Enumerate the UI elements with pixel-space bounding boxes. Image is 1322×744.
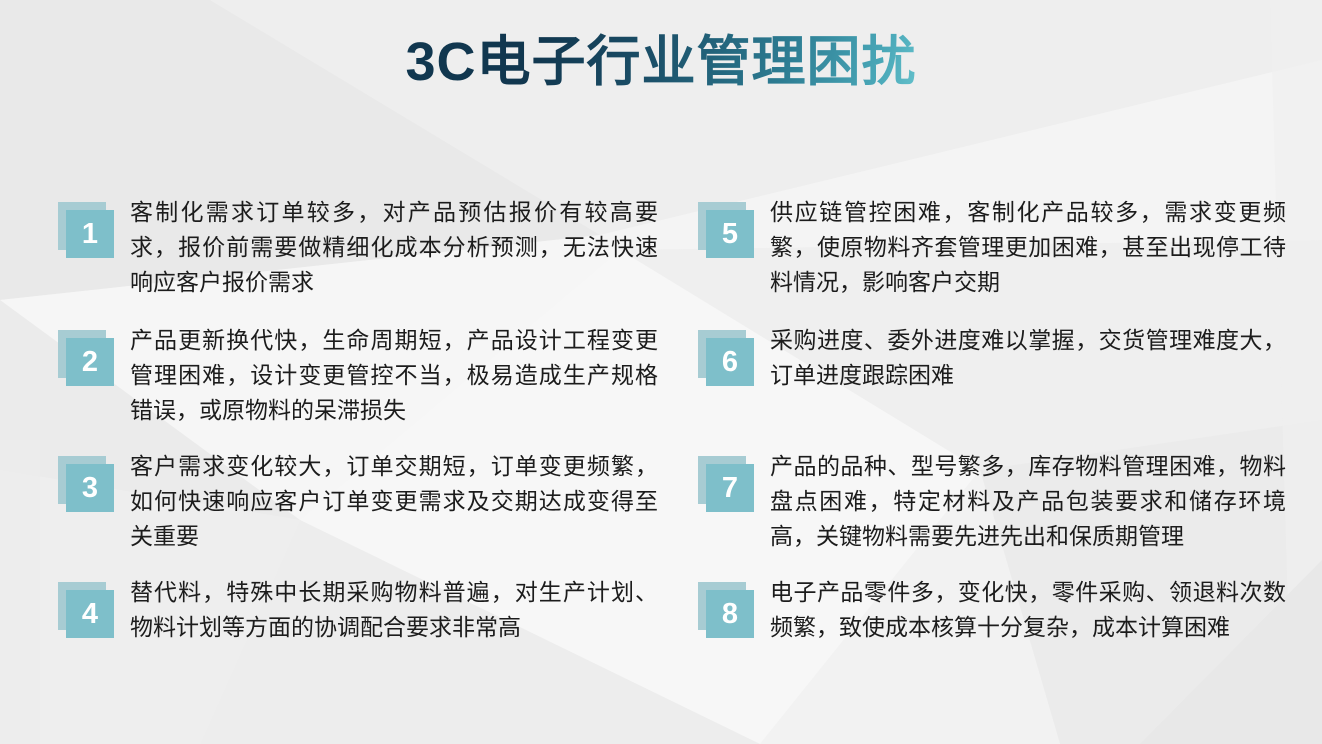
list-item: 5 供应链管控困难，客制化产品较多，需求变更频繁，使原物料齐套管理更加困难，甚至…	[698, 196, 1286, 324]
item-number-badge: 6	[698, 330, 754, 386]
list-item-text: 客户需求变化较大，订单交期短，订单变更频繁，如何快速响应客户订单变更需求及交期达…	[130, 450, 658, 555]
item-number-badge: 4	[58, 582, 114, 638]
badge-number-label: 3	[66, 464, 114, 512]
list-item: 2 产品更新换代快，生命周期短，产品设计工程变更管理困难，设计变更管控不当，极易…	[58, 324, 658, 450]
badge-number-label: 1	[66, 210, 114, 258]
list-item-text: 供应链管控困难，客制化产品较多，需求变更频繁，使原物料齐套管理更加困难，甚至出现…	[770, 196, 1286, 301]
item-number-badge: 3	[58, 456, 114, 512]
right-column: 5 供应链管控困难，客制化产品较多，需求变更频繁，使原物料齐套管理更加困难，甚至…	[698, 196, 1286, 646]
page-title: 3C电子行业管理困扰	[405, 32, 916, 92]
list-item: 4 替代料，特殊中长期采购物料普遍，对生产计划、物料计划等方面的协调配合要求非常…	[58, 576, 658, 646]
list-item-text: 客制化需求订单较多，对产品预估报价有较高要求，报价前需要做精细化成本分析预测，无…	[130, 196, 658, 301]
list-item-text: 替代料，特殊中长期采购物料普遍，对生产计划、物料计划等方面的协调配合要求非常高	[130, 576, 658, 646]
badge-number-label: 2	[66, 338, 114, 386]
list-item: 3 客户需求变化较大，订单交期短，订单变更频繁，如何快速响应客户订单变更需求及交…	[58, 450, 658, 576]
badge-number-label: 6	[706, 338, 754, 386]
left-column: 1 客制化需求订单较多，对产品预估报价有较高要求，报价前需要做精细化成本分析预测…	[58, 196, 658, 646]
list-item: 7 产品的品种、型号繁多，库存物料管理困难，物料盘点困难，特定材料及产品包装要求…	[698, 450, 1286, 576]
badge-number-label: 8	[706, 590, 754, 638]
slide-canvas: 3C电子行业管理困扰 1 客制化需求订单较多，对产品预估报价有较高要求，报价前需…	[0, 0, 1322, 744]
item-number-badge: 7	[698, 456, 754, 512]
list-item-text: 采购进度、委外进度难以掌握，交货管理难度大，订单进度跟踪困难	[770, 324, 1286, 394]
item-number-badge: 5	[698, 202, 754, 258]
badge-number-label: 7	[706, 464, 754, 512]
list-item: 1 客制化需求订单较多，对产品预估报价有较高要求，报价前需要做精细化成本分析预测…	[58, 196, 658, 324]
badge-number-label: 5	[706, 210, 754, 258]
title-container: 3C电子行业管理困扰	[0, 32, 1322, 92]
badge-number-label: 4	[66, 590, 114, 638]
list-item-text: 电子产品零件多，变化快，零件采购、领退料次数频繁，致使成本核算十分复杂，成本计算…	[770, 576, 1286, 646]
list-item-text: 产品的品种、型号繁多，库存物料管理困难，物料盘点困难，特定材料及产品包装要求和储…	[770, 450, 1286, 555]
item-number-badge: 2	[58, 330, 114, 386]
item-number-badge: 8	[698, 582, 754, 638]
list-item: 8 电子产品零件多，变化快，零件采购、领退料次数频繁，致使成本核算十分复杂，成本…	[698, 576, 1286, 646]
list-item: 6 采购进度、委外进度难以掌握，交货管理难度大，订单进度跟踪困难	[698, 324, 1286, 450]
item-number-badge: 1	[58, 202, 114, 258]
list-item-text: 产品更新换代快，生命周期短，产品设计工程变更管理困难，设计变更管控不当，极易造成…	[130, 324, 658, 429]
